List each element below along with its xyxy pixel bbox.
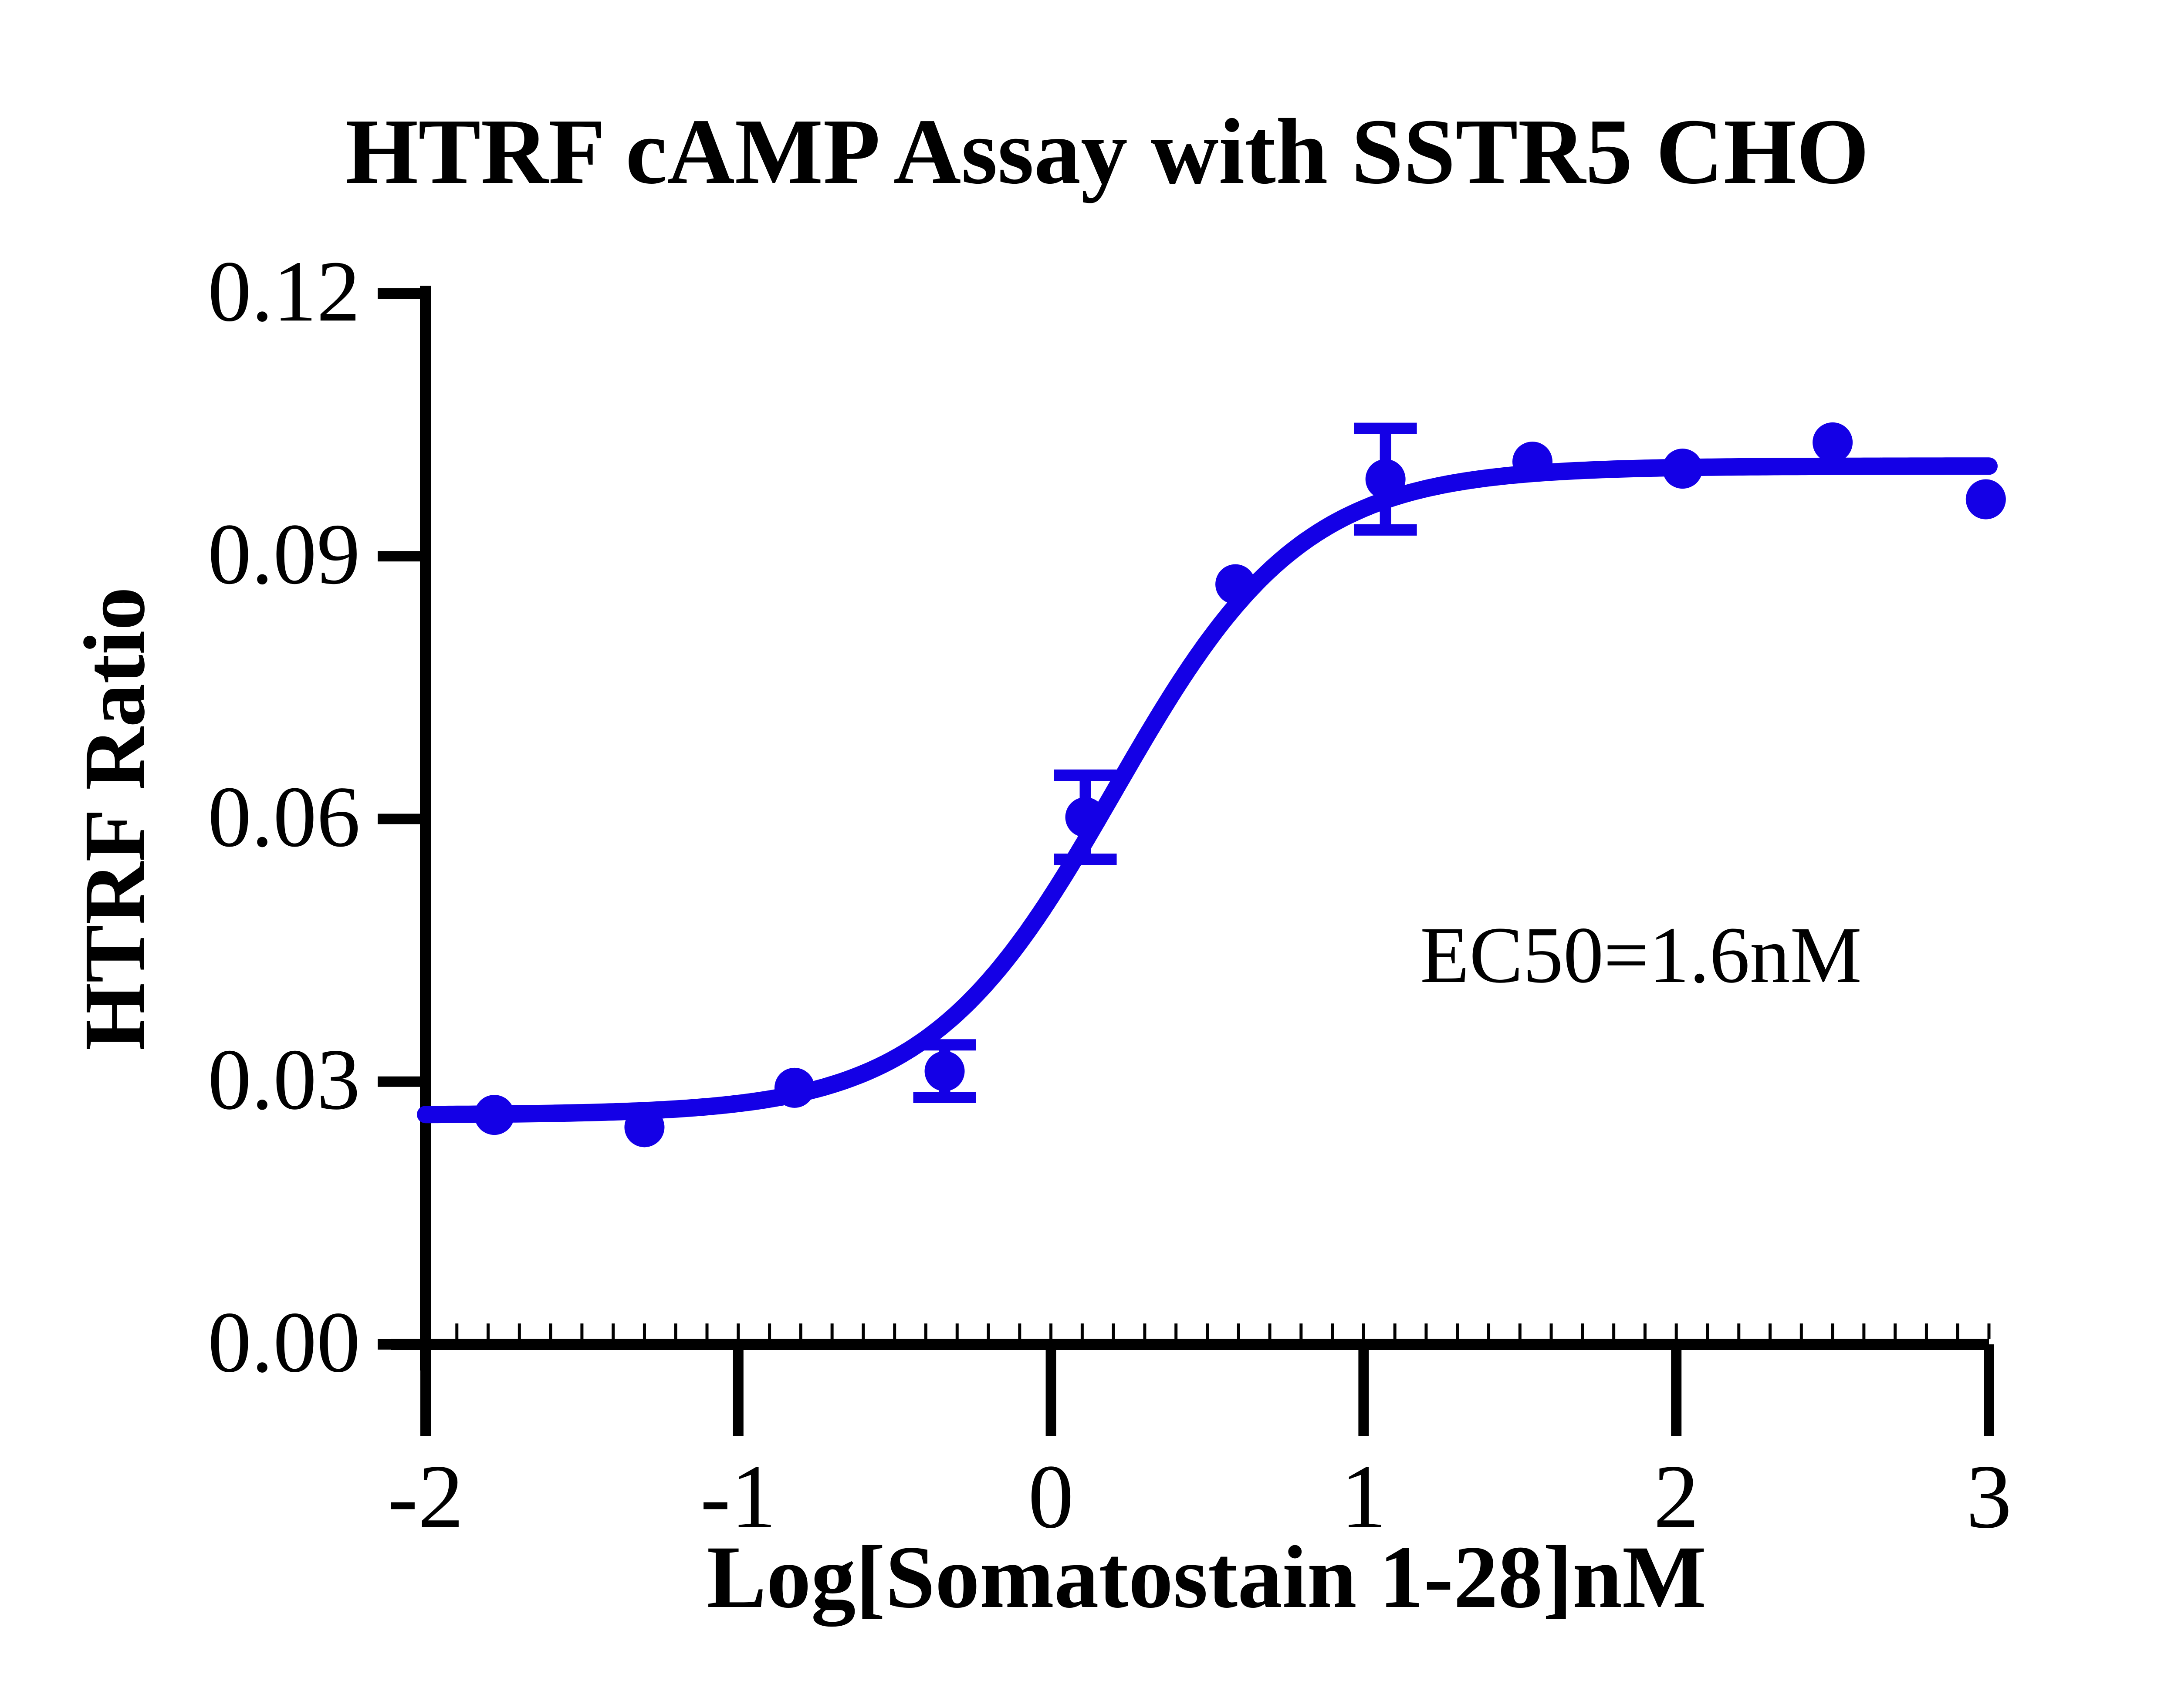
x-axis-title: Log[Somatostain 1-28]nM bbox=[707, 1528, 1707, 1627]
chart-figure: HTRF cAMP Assay with SSTR5 CHO HTRF Rati… bbox=[0, 0, 2178, 1708]
data-point-marker bbox=[1215, 564, 1255, 604]
y-tick-label: 0.09 bbox=[208, 506, 360, 602]
x-tick-label: -2 bbox=[388, 1446, 464, 1547]
fit-curve bbox=[426, 466, 1989, 1114]
x-tick-label: 2 bbox=[1654, 1446, 1699, 1547]
data-point-marker bbox=[474, 1095, 514, 1135]
x-tick-label: -1 bbox=[700, 1446, 776, 1547]
y-axis-title: HTRF Ratio bbox=[67, 587, 163, 1051]
data-point-marker bbox=[1966, 479, 2006, 520]
x-tick-label: 1 bbox=[1341, 1446, 1387, 1547]
y-tick-label: 0.06 bbox=[208, 769, 360, 865]
data-point-marker bbox=[624, 1107, 664, 1147]
ec50-annotation: EC50=1.6nM bbox=[1420, 911, 1862, 1000]
data-point-marker bbox=[774, 1068, 815, 1108]
chart-canvas: HTRF cAMP Assay with SSTR5 CHO HTRF Rati… bbox=[0, 0, 2178, 1708]
chart-title: HTRF cAMP Assay with SSTR5 CHO bbox=[345, 99, 1869, 203]
x-tick-label: 0 bbox=[1028, 1446, 1074, 1547]
y-tick-label: 0.12 bbox=[208, 243, 360, 340]
data-point-marker bbox=[1366, 459, 1406, 499]
y-tick-label: 0.03 bbox=[208, 1032, 360, 1128]
data-points bbox=[474, 422, 2006, 1147]
data-point-marker bbox=[1065, 797, 1106, 837]
fit-curve-path bbox=[426, 466, 1989, 1114]
data-point-marker bbox=[1663, 449, 1703, 489]
y-tick-label: 0.00 bbox=[208, 1294, 360, 1391]
data-point-marker bbox=[925, 1051, 965, 1091]
data-point-marker bbox=[1813, 422, 1853, 462]
x-tick-label: 3 bbox=[1966, 1446, 2012, 1547]
data-point-marker bbox=[1512, 442, 1552, 482]
y-tick-labels: 0.000.030.060.090.12 bbox=[208, 243, 360, 1391]
